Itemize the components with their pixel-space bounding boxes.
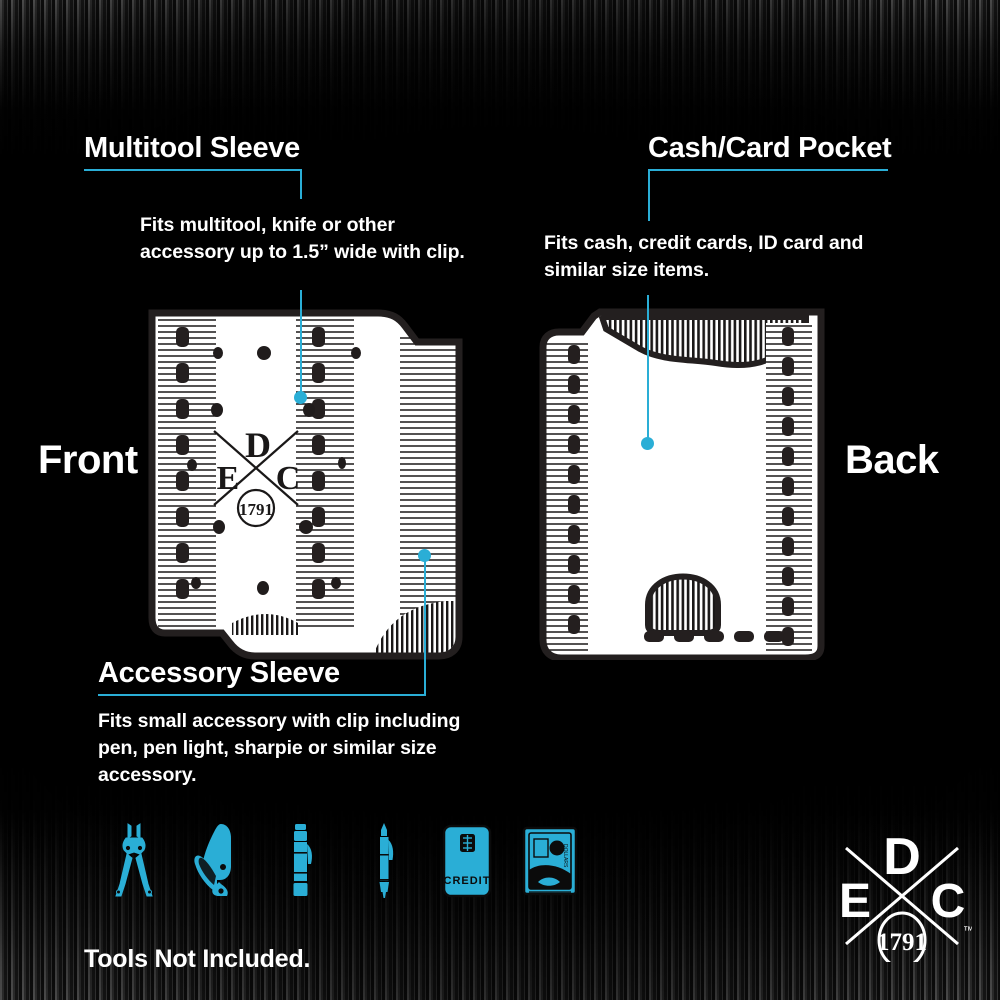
callout-underline-accessory xyxy=(98,694,426,696)
cash-microtext: DOLLARS xyxy=(562,844,568,868)
callout-underline-multitool xyxy=(84,169,302,171)
tools-not-included-note: Tools Not Included. xyxy=(84,945,310,974)
callout-body-multitool-sleeve: Fits multitool, knife or other accessory… xyxy=(140,212,470,266)
brand-logo-edc-1791: D E C 1791 ™ xyxy=(832,822,972,967)
callout-lead-cash-a xyxy=(648,169,650,221)
callout-dot-multitool-sleeve xyxy=(294,391,307,404)
pen-icon xyxy=(342,820,425,900)
view-label-front: Front xyxy=(38,438,138,483)
credit-card-label: CREDIT xyxy=(443,875,490,887)
logo-trademark: ™ xyxy=(963,925,972,937)
callout-lead-accessory-a xyxy=(424,556,426,695)
logo-letter-c: C xyxy=(931,875,966,928)
callout-underline-cash xyxy=(648,169,888,171)
wallet-back-illustration xyxy=(510,305,830,660)
callout-lead-multitool-a xyxy=(300,169,302,199)
callout-title-cash-card-pocket: Cash/Card Pocket xyxy=(648,134,891,163)
compatible-tools-icon-strip: CREDIT DOLLARS xyxy=(92,820,592,900)
flashlight-icon xyxy=(259,820,342,900)
callout-title-accessory-sleeve: Accessory Sleeve xyxy=(98,659,340,688)
cash-bill-icon: DOLLARS xyxy=(509,820,592,900)
callout-lead-multitool-b xyxy=(300,290,302,398)
callout-body-cash-card-pocket: Fits cash, credit cards, ID card and sim… xyxy=(544,230,864,284)
brand-year: 1791 xyxy=(239,500,273,519)
callout-dot-cash-card-pocket xyxy=(641,437,654,450)
brand-letter-c: C xyxy=(276,460,301,497)
callout-lead-cash-b xyxy=(647,295,649,445)
callout-title-multitool-sleeve: Multitool Sleeve xyxy=(84,134,300,163)
multitool-icon xyxy=(92,820,175,900)
credit-card-icon: CREDIT xyxy=(425,820,508,900)
wallet-front-illustration: D E C 1791 xyxy=(146,305,466,660)
logo-letter-d: D xyxy=(883,828,921,886)
view-label-back: Back xyxy=(845,438,939,483)
logo-letter-e: E xyxy=(839,875,871,928)
logo-year: 1791 xyxy=(877,929,927,956)
infographic-canvas: D E C 1791 xyxy=(0,0,1000,1000)
folding-knife-icon xyxy=(175,820,258,900)
callout-body-accessory-sleeve: Fits small accessory with clip including… xyxy=(98,708,466,789)
